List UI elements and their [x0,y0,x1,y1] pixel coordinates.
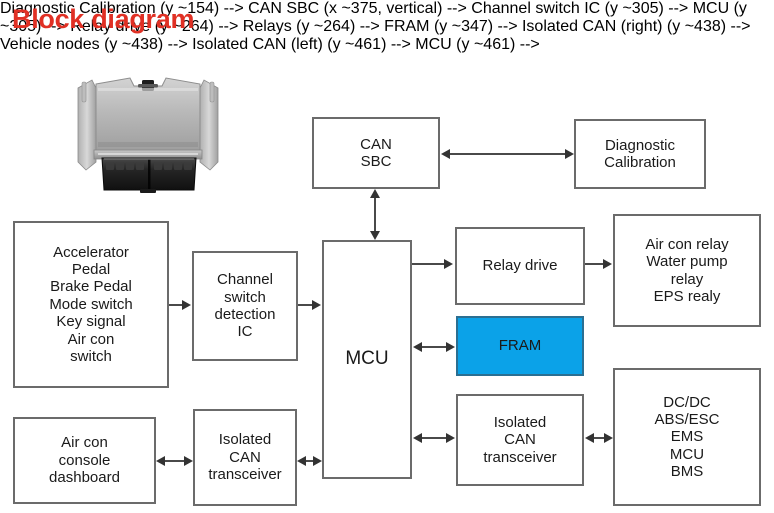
connector-isolated-can-left-mcu-arrowhead-right [313,456,322,466]
connector-inputs-channel-line [169,304,183,306]
connector-can-sbc-diagnostic-arrowhead-left [441,149,450,159]
connector-relay-drive-relays-line [585,263,603,265]
connector-inputs-channel-arrowhead [182,300,191,310]
page-title: Block diagram [12,4,194,35]
connector-mcu-fram-line [422,346,447,348]
connector-mcu-isolated-can-right-arrowhead-left [413,433,422,443]
connector-relay-drive-relays-arrowhead [603,259,612,269]
block-relays[interactable]: Air con relay Water pump relay EPS realy [613,214,761,327]
connector-mcu-relay-drive-arrowhead [444,259,453,269]
connector-air-con-console-isolated-can-left-arrowhead-left [156,456,165,466]
connector-channel-mcu-arrowhead [312,300,321,310]
connector-mcu-relay-drive-line [412,263,444,265]
block-vehicle-nodes[interactable]: DC/DC ABS/ESC EMS MCU BMS [613,368,761,506]
block-relay-drive[interactable]: Relay drive [455,227,585,305]
block-air-con-console-dashboard[interactable]: Air con console dashboard [13,417,156,504]
connector-mcu-isolated-can-right-line [422,437,447,439]
block-can-sbc[interactable]: CAN SBC [312,117,440,189]
connector-mcu-fram-arrowhead-left [413,342,422,352]
connector-mcu-can-sbc-arrowhead-up [370,189,380,198]
block-diagnostic-calibration[interactable]: Diagnostic Calibration [574,119,706,189]
connector-mcu-can-sbc-arrowhead-down [370,231,380,240]
connector-isolated-can-left-mcu-arrowhead-left [297,456,306,466]
block-channel-switch-detection-ic[interactable]: Channel switch detection IC [192,251,298,361]
connector-air-con-console-isolated-can-left-arrowhead-right [184,456,193,466]
block-isolated-can-transceiver-right[interactable]: Isolated CAN transceiver [456,394,584,486]
block-mcu[interactable]: MCU [322,240,412,479]
block-isolated-can-transceiver-left[interactable]: Isolated CAN transceiver [193,409,297,506]
connector-air-con-console-isolated-can-left-line [164,460,185,462]
block-diagram-canvas: Block diagram [0,0,774,513]
block-inputs[interactable]: Accelerator Pedal Brake Pedal Mode switc… [13,221,169,388]
block-fram[interactable]: FRAM [456,316,584,376]
ecu-module-photo [68,58,228,198]
connector-mcu-can-sbc-line [374,197,376,233]
connector-can-sbc-diagnostic-arrowhead-right [565,149,574,159]
connector-can-sbc-diagnostic-line [450,153,566,155]
connector-isolated-can-right-vehicle-nodes-arrowhead-left [585,433,594,443]
connector-isolated-can-right-vehicle-nodes-arrowhead-right [604,433,613,443]
connector-mcu-fram-arrowhead-right [446,342,455,352]
connector-mcu-isolated-can-right-arrowhead-right [446,433,455,443]
connector-channel-mcu-line [298,304,313,306]
